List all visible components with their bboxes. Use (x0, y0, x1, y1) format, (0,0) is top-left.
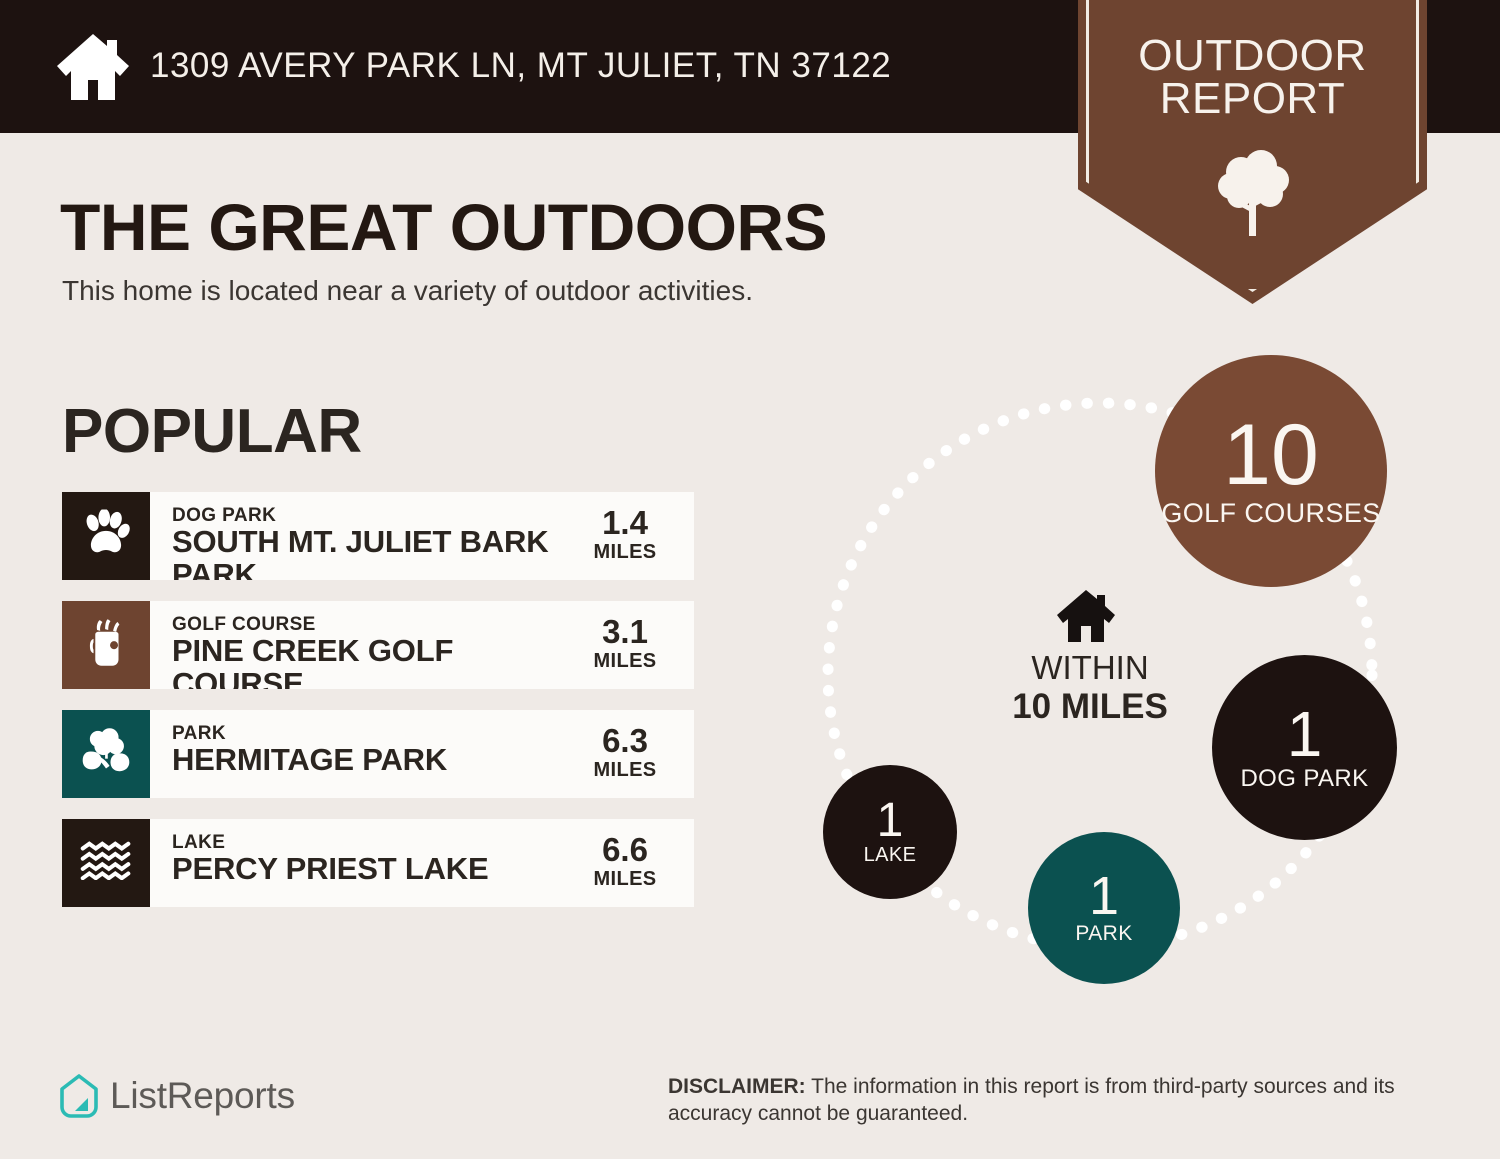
popular-list: DOG PARK SOUTH MT. JULIET BARK PARK 1.4 … (62, 492, 694, 928)
bubble-count: 1 (1287, 704, 1323, 765)
bubble-label: PARK (1075, 923, 1132, 945)
bubble-lake: 1 LAKE (823, 765, 957, 899)
page-subtitle: This home is located near a variety of o… (62, 275, 753, 307)
list-item-distance-value: 6.6 (570, 833, 680, 866)
list-item-distance-unit: MILES (570, 759, 680, 782)
list-item[interactable]: PARK HERMITAGE PARK 6.3 MILES (62, 710, 694, 798)
listreports-house-icon (58, 1073, 100, 1119)
badge-title-line2: REPORT (1160, 74, 1346, 123)
property-address: 1309 AVERY PARK LN, MT JULIET, TN 37122 (150, 46, 891, 86)
list-item-distance-unit: MILES (570, 650, 680, 673)
list-item-distance-value: 3.1 (570, 615, 680, 648)
list-item-distance: 1.4 MILES (570, 506, 680, 564)
disclaimer: DISCLAIMER: The information in this repo… (668, 1073, 1458, 1128)
list-item[interactable]: GOLF COURSE PINE CREEK GOLF COURSE 3.1 M… (62, 601, 694, 689)
list-item-card: GOLF COURSE PINE CREEK GOLF COURSE 3.1 M… (150, 601, 694, 689)
bubble-count: 1 (877, 798, 904, 844)
list-item-distance-value: 1.4 (570, 506, 680, 539)
badge-title-line1: OUTDOOR (1138, 31, 1366, 80)
badge-title: OUTDOOR REPORT (1078, 34, 1427, 120)
list-item-name: PINE CREEK GOLF COURSE (172, 634, 592, 689)
list-item-distance: 6.3 MILES (570, 724, 680, 782)
list-item-distance: 6.6 MILES (570, 833, 680, 891)
bubble-label: DOG PARK (1240, 766, 1368, 791)
park-tree-icon (80, 728, 132, 780)
bubble-label: GOLF COURSES (1161, 499, 1380, 527)
within-10-miles-label: WITHIN 10 MILES (970, 650, 1210, 726)
list-item[interactable]: DOG PARK SOUTH MT. JULIET BARK PARK 1.4 … (62, 492, 694, 580)
list-item-name: HERMITAGE PARK (172, 743, 592, 776)
bubble-label: LAKE (864, 845, 917, 866)
bubble-count: 1 (1089, 871, 1119, 922)
outdoor-report-badge: OUTDOOR REPORT (1078, 0, 1427, 304)
waves-icon (80, 841, 132, 885)
list-item-distance-unit: MILES (570, 541, 680, 564)
list-item-name: PERCY PRIEST LAKE (172, 852, 592, 885)
bubble-park: 1 PARK (1028, 832, 1180, 984)
list-item-distance: 3.1 MILES (570, 615, 680, 673)
tree-icon (1213, 146, 1293, 238)
listreports-logo[interactable]: ListReports (58, 1073, 295, 1119)
house-icon (55, 32, 131, 102)
list-item-card: DOG PARK SOUTH MT. JULIET BARK PARK 1.4 … (150, 492, 694, 580)
section-heading-popular: POPULAR (62, 396, 362, 467)
bubble-dog-park: 1 DOG PARK (1212, 655, 1397, 840)
house-icon (1055, 588, 1117, 644)
listreports-wordmark: ListReports (110, 1075, 295, 1117)
bubble-golf-courses: 10 GOLF COURSES (1155, 355, 1387, 587)
list-item-card: PARK HERMITAGE PARK 6.3 MILES (150, 710, 694, 798)
disclaimer-label: DISCLAIMER: (668, 1075, 806, 1098)
list-item-icon-tile (62, 819, 150, 907)
within-10-miles-diagram: 10 GOLF COURSES 1 DOG PARK 1 PARK 1 LAKE… (800, 345, 1460, 985)
within-label-line1: WITHIN (970, 650, 1210, 687)
list-item-icon-tile (62, 492, 150, 580)
list-item-icon-tile (62, 710, 150, 798)
list-item[interactable]: LAKE PERCY PRIEST LAKE 6.6 MILES (62, 819, 694, 907)
list-item-distance-value: 6.3 (570, 724, 680, 757)
golf-bag-icon (85, 618, 127, 673)
paw-icon (81, 510, 131, 563)
list-item-card: LAKE PERCY PRIEST LAKE 6.6 MILES (150, 819, 694, 907)
list-item-icon-tile (62, 601, 150, 689)
within-label-line2: 10 MILES (970, 687, 1210, 726)
bubble-count: 10 (1223, 415, 1319, 497)
list-item-name: SOUTH MT. JULIET BARK PARK (172, 525, 592, 580)
page-title: THE GREAT OUTDOORS (60, 189, 827, 265)
list-item-distance-unit: MILES (570, 868, 680, 891)
